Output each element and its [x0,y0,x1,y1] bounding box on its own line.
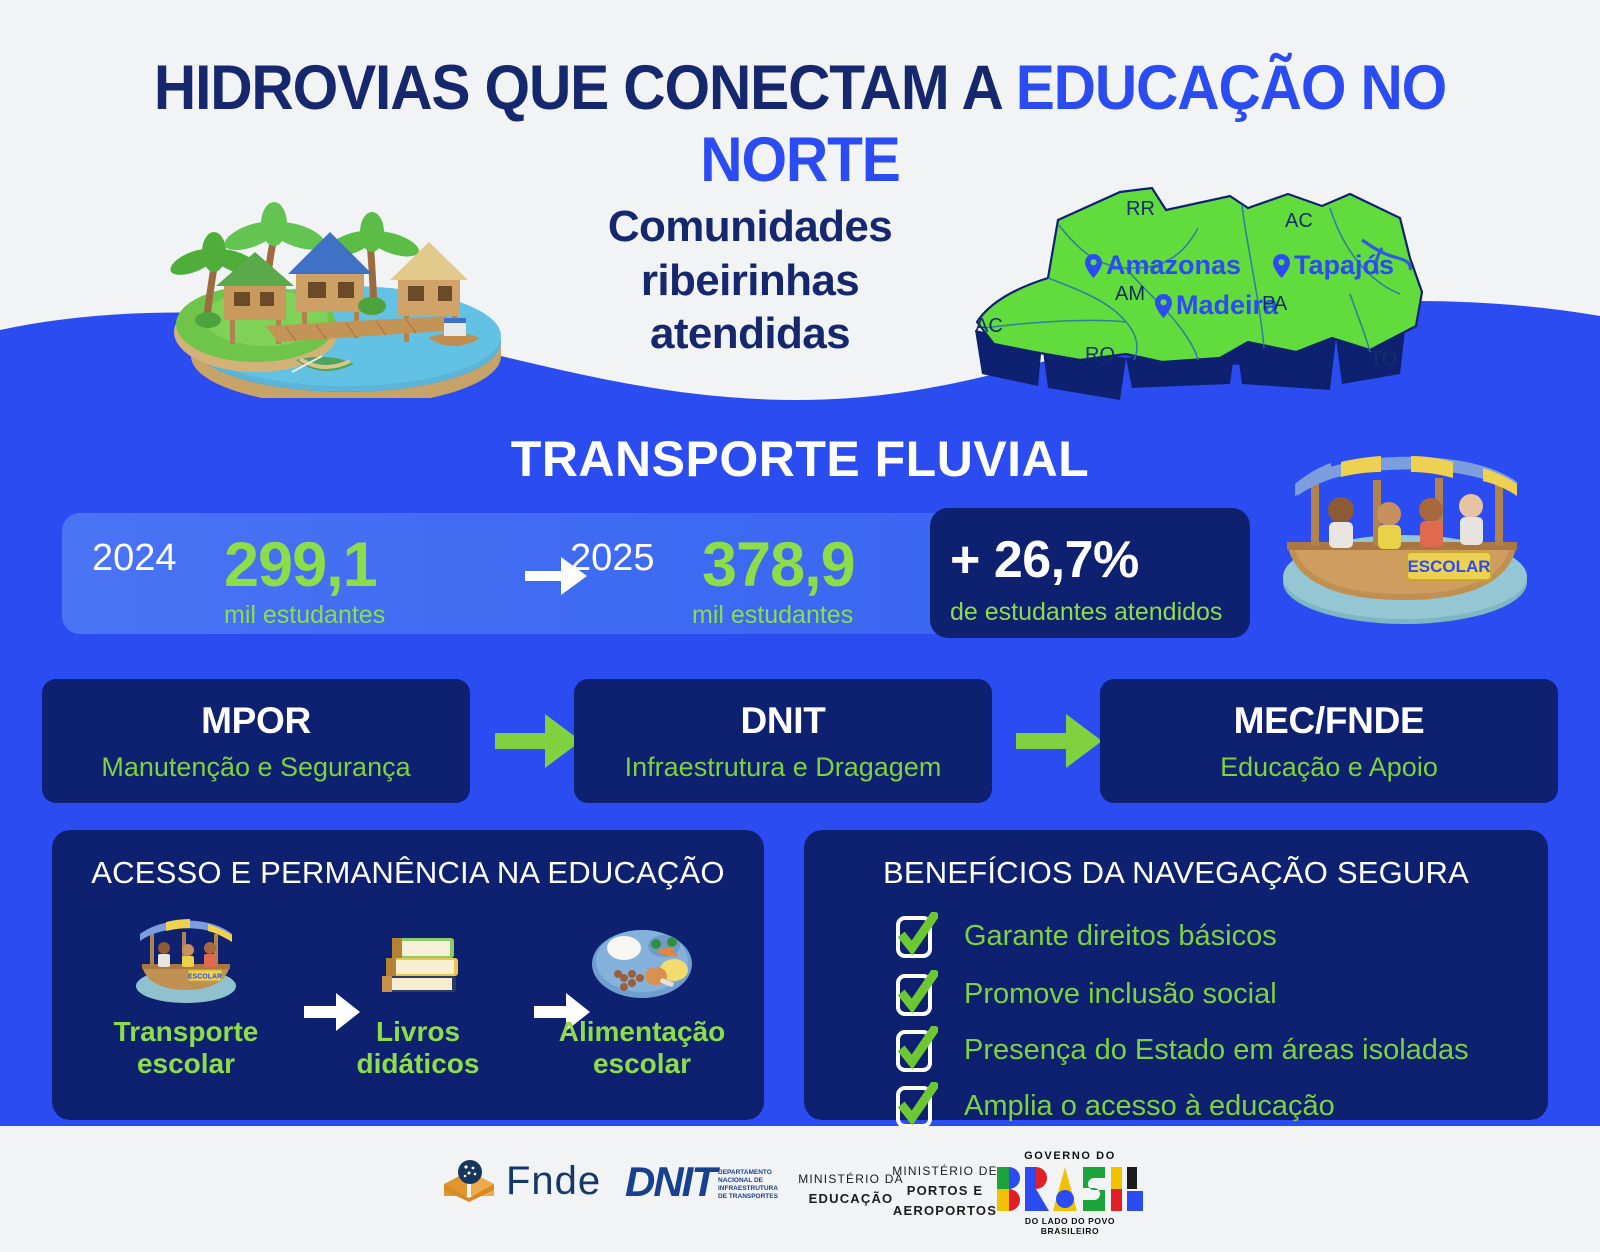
hero-headline-line-2: ribeirinhas [560,254,940,308]
flow-step-mec-fnde-title: MEC/FNDE [1234,700,1425,742]
page-title-part-1: HIDROVIAS QUE CONECTAM A [154,53,1016,123]
dnit-subtitle-line-4: DE TRANSPORTES [718,1193,778,1201]
north-region-map: Amazonas Madeira Tapajós RR AC AM PA AC … [930,162,1430,402]
flow-step-dnit-title: DNIT [740,700,825,742]
location-pin-icon [1273,254,1290,278]
map-state-am: AM [1115,283,1145,306]
flow-step-mpor-subtitle: Manutenção e Segurança [101,752,410,783]
map-state-pa: PA [1262,293,1287,316]
stat-year-2024: 2024 [92,537,177,580]
benefits-panel-title: BENEFÍCIOS DA NAVEGAÇÃO SEGURA [804,855,1548,891]
hero-headline-line-1: Comunidades [560,200,940,254]
access-step-livros[interactable]: Livros didáticos [328,908,508,1080]
map-pin-amazonas-label: Amazonas [1106,250,1241,281]
map-pin-madeira[interactable]: Madeira [1155,290,1278,321]
benefits-panel: BENEFÍCIOS DA NAVEGAÇÃO SEGURA Garante d… [804,830,1548,1120]
dnit-wordmark: DNIT [625,1158,715,1206]
access-step-transporte-line2: escolar [96,1048,276,1080]
dnit-logo: DNIT DEPARTAMENTO NACIONAL DE INFRAESTRU… [625,1158,778,1206]
fnde-book-sphere-logo-icon [440,1156,498,1207]
flow-step-mec-fnde-subtitle: Educação e Apoio [1220,752,1438,783]
meal-tray-icon [582,908,702,1008]
access-panel: ACESSO E PERMANÊNCIA NA EDUCAÇÃO [52,830,764,1120]
books-stack-icon [358,908,478,1008]
flow-step-mpor-title: MPOR [201,700,311,742]
dnit-subtitle-line-1: DEPARTAMENTO [718,1169,778,1177]
governo-bottom-label: DO LADO DO POVO BRASILEIRO [995,1216,1145,1236]
benefit-item-3-label: Presença do Estado em áreas isoladas [964,1034,1469,1067]
map-state-ro: RO [1085,344,1115,367]
green-check-box-icon [896,912,938,960]
benefit-item-1[interactable]: Garante direitos básicos [896,912,1277,960]
access-step-alimentacao-line2: escolar [552,1048,732,1080]
school-boat-icon: ESCOLAR [126,908,246,1008]
fnde-logo: Fnde [440,1156,601,1207]
benefit-item-3[interactable]: Presença do Estado em áreas isoladas [896,1026,1469,1074]
benefit-item-4-label: Amplia o acesso à educação [964,1090,1335,1123]
benefit-item-4[interactable]: Amplia o acesso à educação [896,1082,1335,1130]
map-state-to: TO [1370,348,1397,371]
flow-arrow-icon-1 [495,712,581,770]
fnde-wordmark: Fnde [506,1159,601,1204]
map-pin-tapajos-label: Tapajós [1294,250,1394,281]
dnit-subtitle-line-3: INFRAESTRUTURA [718,1185,778,1193]
location-pin-icon [1085,254,1102,278]
ministry-portos-line-1: MINISTÉRIO DE [880,1162,1010,1181]
hero-headline-line-3: atendidas [560,307,940,361]
dnit-subtitle-line-2: NACIONAL DE [718,1177,778,1185]
map-state-ac-north: AC [1285,210,1313,233]
svg-text:ESCOLAR: ESCOLAR [188,974,222,981]
river-village-island-illustration [146,166,518,398]
growth-percentage-caption: de estudantes atendidos [950,598,1222,627]
access-step-alimentacao-label: Alimentação escolar [552,1016,732,1080]
flow-step-dnit[interactable]: DNIT Infraestrutura e Dragagem [574,679,992,803]
access-step-livros-line1: Livros [328,1016,508,1048]
benefit-item-2[interactable]: Promove inclusão social [896,970,1277,1018]
benefit-item-2-label: Promove inclusão social [964,978,1277,1011]
svg-text:ESCOLAR: ESCOLAR [1407,557,1490,576]
ministry-portos-line-3: AEROPORTOS [880,1201,1010,1221]
stat-year-2025: 2025 [570,537,655,580]
growth-percentage-value: + 26,7% [950,530,1139,590]
access-step-alimentacao-line1: Alimentação [552,1016,732,1048]
access-step-livros-label: Livros didáticos [328,1016,508,1080]
access-step-transporte[interactable]: ESCOLAR Transporte escolar [96,908,276,1080]
infographic-canvas: HIDROVIAS QUE CONECTAM A EDUCAÇÃO NO NOR… [0,0,1600,1252]
location-pin-icon [1155,294,1172,318]
map-pin-tapajos[interactable]: Tapajós [1273,250,1394,281]
governo-top-label: GOVERNO DO [995,1150,1145,1162]
map-state-rr: RR [1126,198,1155,221]
green-check-box-icon [896,970,938,1018]
stat-unit-2024: mil estudantes [224,601,385,630]
flow-step-mpor[interactable]: MPOR Manutenção e Segurança [42,679,470,803]
footer-logos-bar: Fnde DNIT DEPARTAMENTO NACIONAL DE INFRA… [0,1126,1600,1252]
logo-strip: Fnde DNIT DEPARTAMENTO NACIONAL DE INFRA… [440,1144,1140,1234]
stat-value-2024: 299,1 [224,529,377,601]
brasil-wordmark-icon [995,1165,1145,1213]
growth-percentage-box: + 26,7% de estudantes atendidos [930,508,1250,638]
access-step-alimentacao[interactable]: Alimentação escolar [552,908,732,1080]
governo-do-brasil-logo: GOVERNO DO [995,1150,1145,1236]
green-check-box-icon [896,1082,938,1130]
map-state-ac: AC [975,315,1003,338]
hero-headline: Comunidades ribeirinhas atendidas [560,200,940,361]
access-step-livros-line2: didáticos [328,1048,508,1080]
school-boat-illustration: ESCOLAR [1255,432,1555,632]
flow-arrow-icon-2 [1016,712,1102,770]
access-panel-title: ACESSO E PERMANÊNCIA NA EDUCAÇÃO [52,855,764,891]
stat-value-2025: 378,9 [702,529,855,601]
flow-step-dnit-subtitle: Infraestrutura e Dragagem [625,752,942,783]
flow-step-mec-fnde[interactable]: MEC/FNDE Educação e Apoio [1100,679,1558,803]
ministry-portos-line-2: PORTOS E [880,1181,1010,1201]
ministry-portos-aeroportos-logo: MINISTÉRIO DE PORTOS E AEROPORTOS [880,1162,1010,1221]
access-step-transporte-line1: Transporte [96,1016,276,1048]
map-pin-amazonas[interactable]: Amazonas [1085,250,1241,281]
green-check-box-icon [896,1026,938,1074]
access-step-transporte-label: Transporte escolar [96,1016,276,1080]
benefit-item-1-label: Garante direitos básicos [964,920,1277,953]
stat-unit-2025: mil estudantes [692,601,853,630]
dnit-subtitle: DEPARTAMENTO NACIONAL DE INFRAESTRUTURA … [718,1169,778,1207]
